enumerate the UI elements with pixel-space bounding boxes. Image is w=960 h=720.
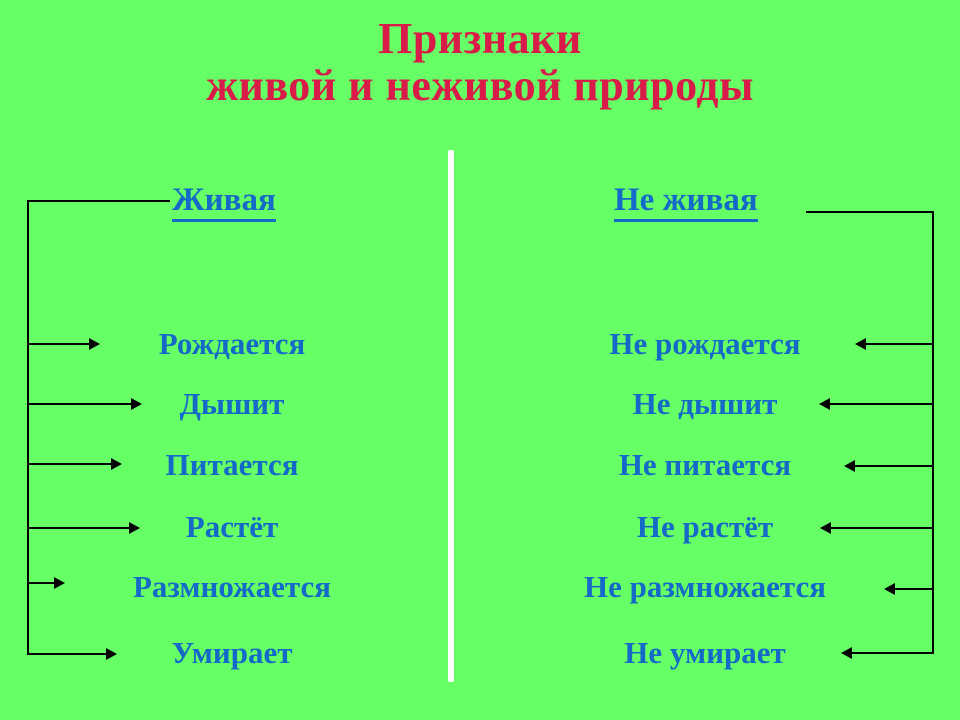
page-title: Признаки живой и неживой природы [0, 16, 960, 109]
left-item-label-6: Умирает [172, 635, 293, 670]
title-line-2: живой и неживой природы [0, 63, 960, 110]
list-item: Не умирает [476, 637, 934, 668]
right-item-label-1: Не рождается [609, 326, 800, 361]
list-item: Не дышит [476, 388, 934, 419]
list-item: Умирает [0, 637, 464, 668]
left-item-label-1: Рождается [159, 326, 305, 361]
list-item: Дышит [0, 388, 464, 419]
left-item-label-2: Дышит [180, 386, 285, 421]
list-item: Рождается [0, 328, 464, 359]
left-item-label-3: Питается [166, 447, 299, 482]
list-item: Растёт [0, 511, 464, 542]
list-item: Не размножается [476, 571, 934, 602]
right-item-label-4: Не растёт [637, 509, 773, 544]
list-item: Не питается [476, 449, 934, 480]
list-item: Питается [0, 449, 464, 480]
right-item-label-6: Не умирает [624, 635, 785, 670]
right-bracket-header-line [806, 211, 934, 213]
list-item: Не растёт [476, 511, 934, 542]
right-item-label-2: Не дышит [633, 386, 778, 421]
right-item-label-3: Не питается [619, 447, 791, 482]
column-header-non-alive: Не живая [614, 183, 758, 222]
column-header-alive: Живая [172, 183, 276, 222]
list-item: Не рождается [476, 328, 934, 359]
title-line-1: Признаки [0, 16, 960, 63]
slide-canvas: Признаки живой и неживой природы Живая Н… [0, 0, 960, 720]
left-item-label-4: Растёт [186, 509, 278, 544]
list-item: Размножается [0, 571, 464, 602]
right-item-label-5: Не размножается [584, 569, 826, 604]
left-item-label-5: Размножается [133, 569, 331, 604]
left-bracket-header-line [27, 200, 170, 202]
